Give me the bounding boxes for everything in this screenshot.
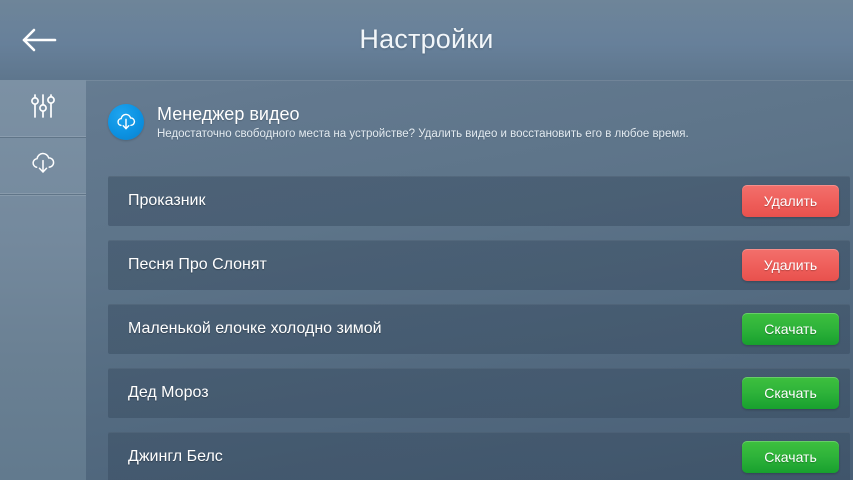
- delete-button[interactable]: Удалить: [742, 249, 839, 281]
- video-title: Проказник: [128, 192, 742, 210]
- top-bar: Настройки: [0, 0, 853, 80]
- download-button[interactable]: Скачать: [742, 313, 839, 345]
- video-title: Маленькой елочке холодно зимой: [128, 320, 742, 338]
- sidebar-divider: [0, 194, 86, 195]
- table-row: Маленькой елочке холодно зимойСкачать: [108, 304, 850, 354]
- cloud-download-icon: [108, 104, 144, 140]
- download-button[interactable]: Скачать: [742, 377, 839, 409]
- section-header-text: Менеджер видео Недостаточно свободного м…: [157, 102, 689, 142]
- section-title: Менеджер видео: [157, 103, 689, 125]
- section-subtitle: Недостаточно свободного места на устройс…: [157, 127, 689, 142]
- section-header: Менеджер видео Недостаточно свободного м…: [108, 102, 838, 160]
- settings-screen: Настройки: [0, 0, 853, 480]
- video-list: ПроказникУдалитьПесня Про СлонятУдалитьМ…: [108, 176, 850, 480]
- delete-button[interactable]: Удалить: [742, 185, 839, 217]
- video-title: Дед Мороз: [128, 384, 742, 402]
- sidebar-item-video-manager[interactable]: [0, 137, 86, 194]
- main-content: Менеджер видео Недостаточно свободного м…: [86, 80, 853, 480]
- video-title: Джингл Белс: [128, 448, 742, 466]
- cloud-download-icon: [28, 148, 58, 183]
- sidebar: [0, 80, 86, 480]
- video-title: Песня Про Слонят: [128, 256, 742, 274]
- sliders-icon: [28, 91, 58, 126]
- page-title: Настройки: [0, 24, 853, 55]
- table-row: Дед МорозСкачать: [108, 368, 850, 418]
- sidebar-item-settings[interactable]: [0, 80, 86, 137]
- table-row: Джингл БелсСкачать: [108, 432, 850, 480]
- download-button[interactable]: Скачать: [742, 441, 839, 473]
- table-row: ПроказникУдалить: [108, 176, 850, 226]
- table-row: Песня Про СлонятУдалить: [108, 240, 850, 290]
